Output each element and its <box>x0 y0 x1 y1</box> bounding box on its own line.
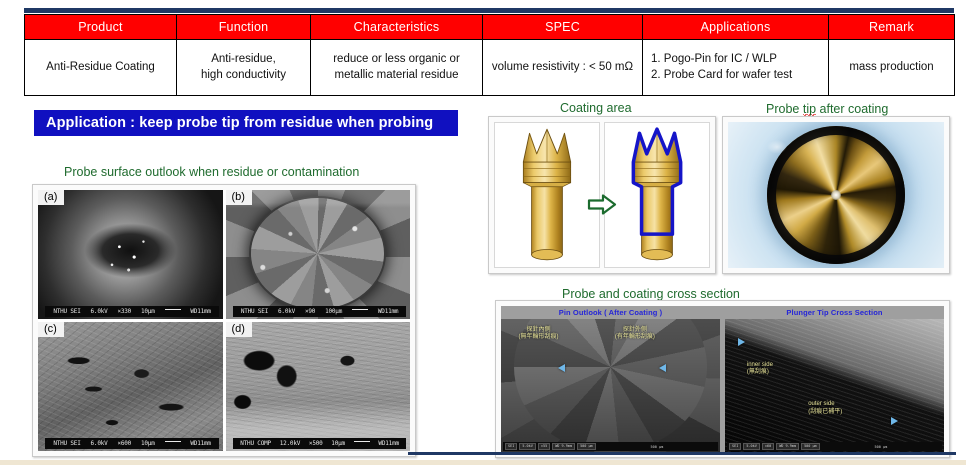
cell-applications-line1: 1. Pogo-Pin for IC / WLP <box>651 52 824 68</box>
cell-function-line1: Anti-residue, <box>181 52 306 68</box>
scale-bar-icon <box>165 441 181 442</box>
annotation-outer-cn-sub: (有年輪形刮痕) <box>615 334 655 342</box>
sem-lab-b: NTHU SEI <box>241 308 268 315</box>
sem-kv-d: 12.0kV <box>280 440 300 447</box>
annotation-outer-cn: 探針外側 (有年輪形刮痕) <box>615 327 655 342</box>
sem-label-c: (c) <box>38 322 64 337</box>
arrow-outer-side-icon <box>891 417 898 425</box>
scale-bar-icon <box>352 309 368 310</box>
cell-spec: volume resistivity : < 50 mΩ <box>483 40 643 96</box>
sem-infobar-c: NTHU SEI 6.0kV ×600 10μm WD11mm <box>45 438 218 449</box>
sem-texture-d <box>226 322 411 451</box>
sem-lab-a: NTHU SEI <box>53 308 80 315</box>
spec-table-header-row: Product Function Characteristics SPEC Ap… <box>25 15 955 40</box>
cell-applications-line2: 2. Probe Card for wafer test <box>651 68 824 84</box>
sem-texture-b <box>226 190 411 319</box>
sem-scale-b: 100μm <box>325 308 342 315</box>
caption-probe-tip-after-coating: Probe tip after coating <box>766 102 888 116</box>
annotation-inner-en: inner side (無刮痕) <box>747 362 773 377</box>
cell-product: Anti-Residue Coating <box>25 40 177 96</box>
plunger-tip-title: Plunger Tip Cross Section <box>725 306 944 319</box>
column-header-applications: Applications <box>643 15 829 40</box>
sem-scale-d: 10μm <box>331 440 345 447</box>
sem-wd-c: WD11mm <box>190 440 210 447</box>
sem-image-c: (c) NTHU SEI 6.0kV ×600 10μm WD11mm <box>38 322 223 451</box>
sem-wd-a: WD11mm <box>190 308 210 315</box>
caption-cross-section: Probe and coating cross section <box>562 287 740 301</box>
plunger-sem-v3: ×60 <box>762 443 774 451</box>
sem-mag-c: ×600 <box>117 440 131 447</box>
sem-label-b: (b) <box>226 190 252 205</box>
pin-sem-v3: ×55 <box>538 443 550 451</box>
sem-image-d: (d) NTHU COMP 12.0kV ×500 10μm WD11mm <box>226 322 411 451</box>
column-header-product: Product <box>25 15 177 40</box>
sem-kv-b: 6.0kV <box>278 308 295 315</box>
coating-area-panel <box>488 116 716 274</box>
bottom-rule <box>408 452 956 455</box>
column-header-characteristics: Characteristics <box>311 15 483 40</box>
plunger-sem-infobar: SEI 5.0kV ×60 WD 9.9mm 500 μm 500 μm <box>727 442 942 451</box>
caption-coating-area: Coating area <box>560 101 632 115</box>
sem-label-a: (a) <box>38 190 64 205</box>
plunger-sem-v1: SEI <box>729 443 741 451</box>
probe-tip-photo-panel <box>722 116 950 274</box>
sem-label-d: (d) <box>226 322 252 337</box>
table-row: Anti-Residue Coating Anti-residue, high … <box>25 40 955 96</box>
bottom-beige-strip <box>0 460 966 465</box>
cell-characteristics-line2: metallic material residue <box>315 68 478 84</box>
annotation-outer-en-main: outer side <box>808 401 842 409</box>
highlight-glare <box>767 140 787 154</box>
sem-wd-d: WD11mm <box>378 440 398 447</box>
pin-sem-v4: WD 9.9mm <box>552 443 575 451</box>
cell-function-line2: high conductivity <box>181 68 306 84</box>
arrow-outer-icon <box>659 364 666 372</box>
pin-sem-v2: 5.0kV <box>519 443 536 451</box>
top-rule <box>24 8 954 13</box>
plunger-sem-v5: 500 μm <box>801 443 820 451</box>
scale-bar-icon <box>165 309 181 310</box>
cell-applications: 1. Pogo-Pin for IC / WLP 2. Probe Card f… <box>643 40 829 96</box>
pin-outlook-image: 探針內側 (無年輪形刮痕) 探針外側 (有年輪形刮痕) SEI 5.0kV ×5… <box>501 319 720 452</box>
column-header-spec: SPEC <box>483 15 643 40</box>
sem-kv-a: 6.0kV <box>91 308 108 315</box>
spellcheck-underlined-word: tip <box>803 102 816 117</box>
scale-bar-icon <box>354 441 370 442</box>
sem-infobar-a: NTHU SEI 6.0kV ×330 10μm WD11mm <box>45 306 218 317</box>
coating-area-inner <box>494 122 710 268</box>
pin-sem-infobar: SEI 5.0kV ×55 WD 9.9mm 500 μm 500 μm <box>503 442 718 451</box>
application-banner: Application : keep probe tip from residu… <box>34 110 458 136</box>
annotation-outer-en: outer side (刮痕已補平) <box>808 401 842 416</box>
annotation-inner-en-main: inner side <box>747 362 773 370</box>
sem-infobar-b: NTHU SEI 6.0kV ×90 100μm WD11mm <box>233 306 406 317</box>
sem-kv-c: 6.0kV <box>91 440 108 447</box>
cross-section-panel: Pin Outlook ( After Coating ) 探針內側 (無年輪形… <box>495 300 950 458</box>
sem-lab-c: NTHU SEI <box>53 440 80 447</box>
coated-probe-illustration <box>605 123 709 267</box>
caption-text-part2: after coating <box>816 102 888 116</box>
column-header-function: Function <box>177 15 311 40</box>
annotation-inner-cn-sub: (無年輪形刮痕) <box>519 334 559 342</box>
sem-texture-c <box>38 322 223 451</box>
sem-wd-b: WD11mm <box>378 308 398 315</box>
sem-image-grid-panel: (a) NTHU SEI 6.0kV ×330 10μm WD11mm (b) … <box>32 184 416 457</box>
probe-tip-disc <box>767 126 905 264</box>
plunger-tip-texture <box>725 319 944 452</box>
sem-scale-c: 10μm <box>141 440 155 447</box>
sem-mag-a: ×330 <box>117 308 131 315</box>
arrow-inner-icon <box>558 364 565 372</box>
pin-outlook-title: Pin Outlook ( After Coating ) <box>501 306 720 319</box>
sem-image-a: (a) NTHU SEI 6.0kV ×330 10μm WD11mm <box>38 190 223 319</box>
annotation-inner-en-sub: (無刮痕) <box>747 369 773 377</box>
pin-sem-v1: SEI <box>505 443 517 451</box>
pin-sem-v5: 500 μm <box>577 443 596 451</box>
column-header-remark: Remark <box>829 15 955 40</box>
plunger-tip-image: inner side (無刮痕) outer side (刮痕已補平) SEI … <box>725 319 944 452</box>
cross-section-inner: Pin Outlook ( After Coating ) 探針內側 (無年輪形… <box>501 306 944 452</box>
sem-image-b: (b) NTHU SEI 6.0kV ×90 100μm WD11mm <box>226 190 411 319</box>
cell-characteristics-line1: reduce or less organic or <box>315 52 478 68</box>
pin-outlook-cell: Pin Outlook ( After Coating ) 探針內側 (無年輪形… <box>501 306 720 452</box>
sem-mag-b: ×90 <box>305 308 315 315</box>
plunger-tip-cell: Plunger Tip Cross Section inner side (無刮… <box>725 306 944 452</box>
arrow-right-icon <box>587 194 617 216</box>
arrow-inner-side-icon <box>738 338 745 346</box>
sem-texture-a <box>38 190 223 319</box>
transform-arrow <box>587 194 617 221</box>
uncoated-probe-cell <box>494 122 600 268</box>
plunger-sem-scale: 500 μm <box>822 442 940 451</box>
probe-tip-microscope-image <box>728 122 944 268</box>
plunger-sem-v2: 5.0kV <box>743 443 760 451</box>
cell-function: Anti-residue, high conductivity <box>177 40 311 96</box>
cell-remark: mass production <box>829 40 955 96</box>
cell-characteristics: reduce or less organic or metallic mater… <box>311 40 483 96</box>
caption-text-part1: Probe <box>766 102 803 116</box>
annotation-inner-cn: 探針內側 (無年輪形刮痕) <box>519 327 559 342</box>
sem-mag-d: ×500 <box>309 440 323 447</box>
plunger-sem-v4: WD 9.9mm <box>776 443 799 451</box>
coated-probe-cell <box>604 122 710 268</box>
sem-scale-a: 10μm <box>141 308 155 315</box>
pin-sem-scale: 500 μm <box>598 442 716 451</box>
uncoated-probe-illustration <box>495 123 599 267</box>
slide-root: Product Function Characteristics SPEC Ap… <box>0 0 966 465</box>
spec-table: Product Function Characteristics SPEC Ap… <box>24 14 955 96</box>
sem-infobar-d: NTHU COMP 12.0kV ×500 10μm WD11mm <box>233 438 406 449</box>
sem-grid: (a) NTHU SEI 6.0kV ×330 10μm WD11mm (b) … <box>38 190 410 451</box>
caption-surface-outlook: Probe surface outlook when residue or co… <box>64 165 359 179</box>
sem-lab-d: NTHU COMP <box>240 440 271 447</box>
annotation-outer-en-sub: (刮痕已補平) <box>808 409 842 417</box>
